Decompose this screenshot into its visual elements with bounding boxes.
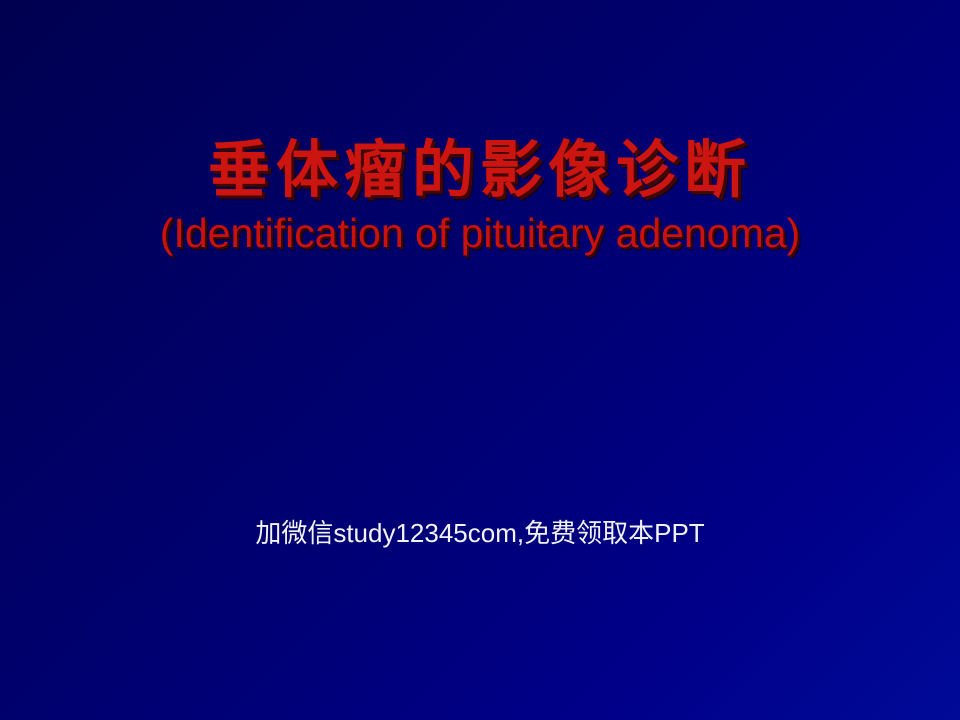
slide-title-chinese: 垂体瘤的影像诊断 bbox=[0, 132, 960, 208]
presentation-slide: 垂体瘤的影像诊断 (Identification of pituitary ad… bbox=[0, 0, 960, 720]
promo-watermark-text: 加微信study12345com,免费领取本PPT bbox=[255, 518, 704, 548]
promo-line: 加微信study12345com,免费领取本PPT bbox=[0, 516, 960, 550]
title-block: 垂体瘤的影像诊断 (Identification of pituitary ad… bbox=[0, 132, 960, 258]
slide-title-english: (Identification of pituitary adenoma) bbox=[0, 208, 960, 258]
